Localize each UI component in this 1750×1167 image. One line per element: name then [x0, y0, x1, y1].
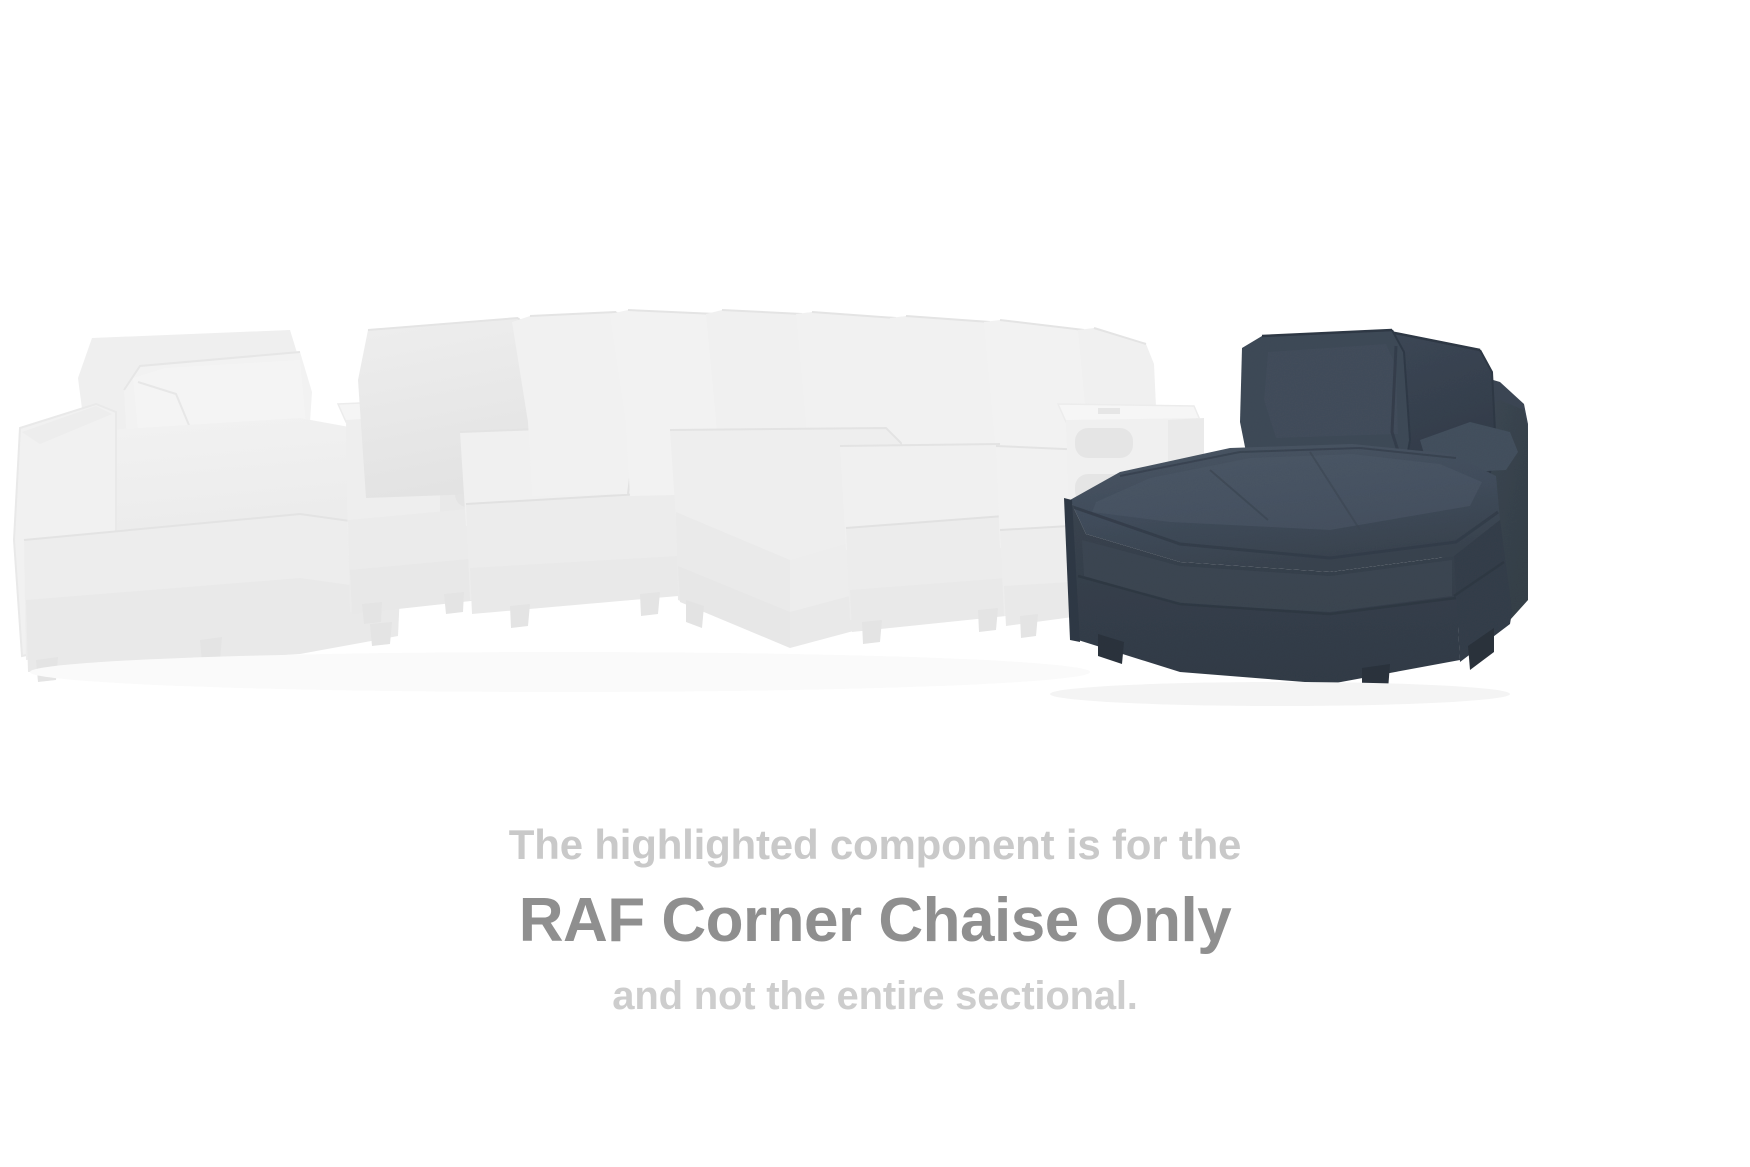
module-armless-chair-2	[840, 444, 1006, 644]
caption-line-disclaimer: and not the entire sectional.	[0, 973, 1750, 1020]
ghosted-sectional-group	[14, 310, 1206, 692]
caption-line-component-name: RAF Corner Chaise Only	[0, 884, 1750, 957]
caption-block: The highlighted component is for the RAF…	[0, 820, 1750, 1020]
product-highlight-page: The highlighted component is for the RAF…	[0, 0, 1750, 1167]
caption-line-intro: The highlighted component is for the	[0, 820, 1750, 870]
sectional-illustration	[0, 0, 1750, 800]
module-laf-armchair	[14, 330, 400, 682]
